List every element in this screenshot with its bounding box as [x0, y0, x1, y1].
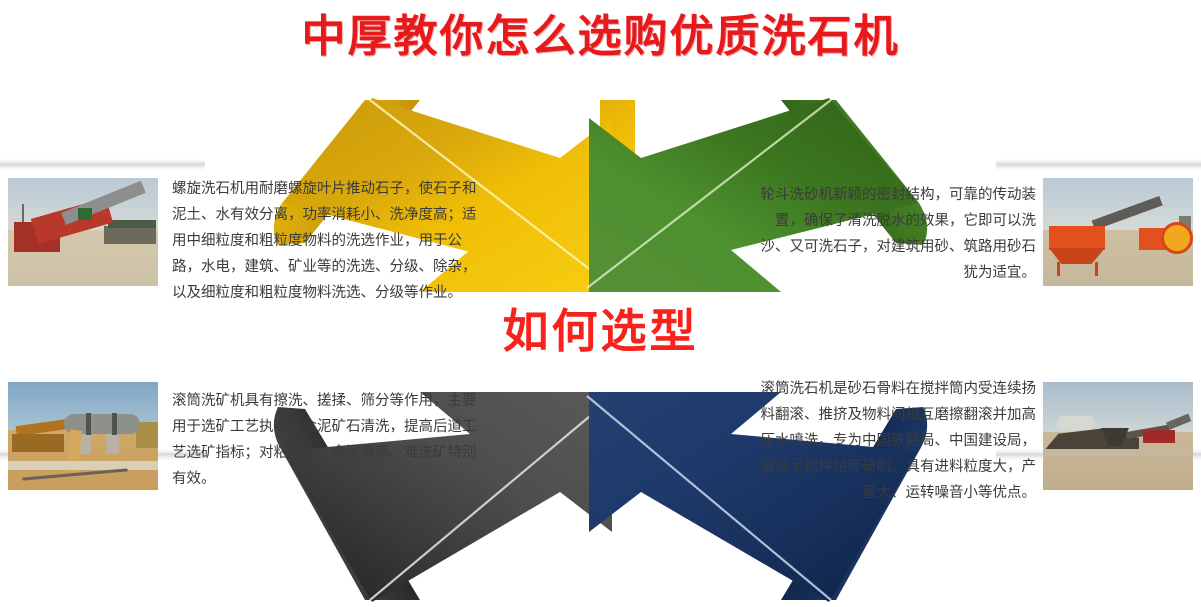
center-question-label: 如何选型	[0, 303, 1201, 359]
drum-stone-washer-photo	[1043, 382, 1193, 490]
description-bottom-left: 滚筒洗矿机具有擦洗、搓揉、筛分等作用，主要用于选矿工艺执行前含泥矿石清洗，提高后…	[172, 388, 484, 492]
spiral-stone-washer-photo	[8, 178, 158, 286]
description-top-left: 螺旋洗石机用耐磨螺旋叶片推动石子，使石子和泥土、水有效分离，功率消耗小、洗净度高…	[172, 176, 482, 306]
description-bottom-right: 滚筒洗石机是砂石骨料在搅拌筒内受连续扬料翻滚、推挤及物料间相互磨擦翻滚并加高压水…	[748, 376, 1036, 506]
drum-ore-washer-photo	[8, 382, 158, 490]
infographic-poster: 中厚教你怎么选购优质洗石机	[0, 0, 1201, 607]
wheel-bucket-sand-washer-photo	[1043, 178, 1193, 286]
description-top-right: 轮斗洗砂机新颖的密封结构，可靠的传动装置，确保了清洗脱水的效果，它即可以洗沙、又…	[758, 182, 1036, 286]
